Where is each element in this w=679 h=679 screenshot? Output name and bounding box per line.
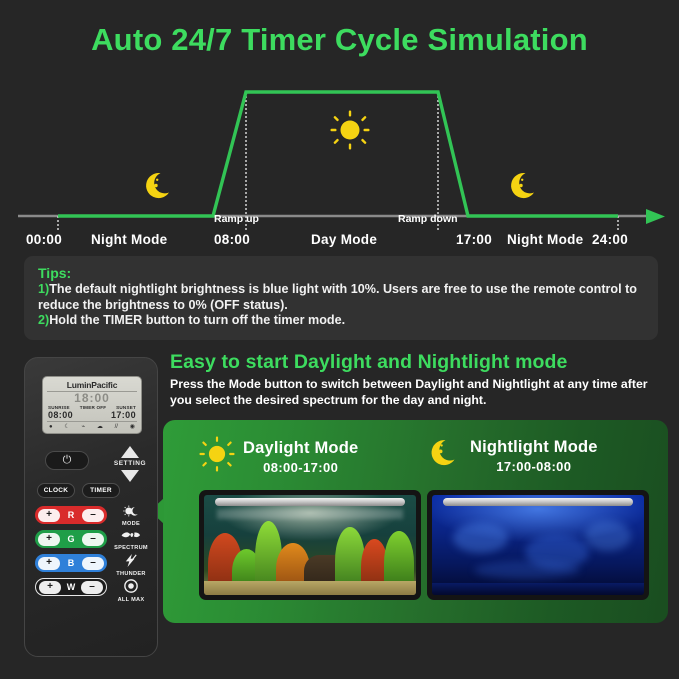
daylight-mode-header: Daylight Mode 08:00-17:00 bbox=[199, 436, 358, 477]
channel-row-white: + W – bbox=[35, 578, 107, 596]
daylight-mode-text: Daylight Mode 08:00-17:00 bbox=[243, 439, 358, 475]
remote-control: LuminPacific 18:00 SUNRISE TIMER OFF SUN… bbox=[24, 357, 158, 657]
tick-label-0800: 08:00 bbox=[214, 232, 250, 247]
all-max-label: ALL MAX bbox=[111, 597, 151, 603]
ramp-up-label: Ramp up bbox=[214, 213, 259, 225]
tip-text-2: Hold the TIMER button to turn off the ti… bbox=[49, 313, 345, 327]
aquarium-light-bar bbox=[215, 498, 406, 506]
nightlight-aquarium-photo bbox=[427, 490, 649, 600]
tip-number-2: 2) bbox=[38, 313, 49, 327]
tips-heading: Tips: bbox=[38, 265, 644, 281]
zone-label-night-2: Night Mode bbox=[507, 232, 584, 247]
subhead-body: Press the Mode button to switch between … bbox=[170, 377, 670, 408]
sun-icon bbox=[199, 436, 235, 477]
lcd-cloud-icon: ☁ bbox=[97, 423, 103, 430]
red-channel-label: R bbox=[68, 510, 75, 520]
spectrum-label: SPECTRUM bbox=[111, 545, 151, 551]
tick-label-0000: 00:00 bbox=[26, 232, 62, 247]
lcd-clock-value: 18:00 bbox=[47, 392, 137, 405]
mode-button[interactable]: MODE bbox=[111, 505, 151, 527]
tip-item-1: 1)The default nightlight brightness is b… bbox=[38, 282, 644, 313]
chart-svg bbox=[0, 80, 679, 250]
tick-label-2400: 24:00 bbox=[592, 232, 628, 247]
lcd-moon-icon: ☾ bbox=[64, 423, 69, 430]
lcd-sunrise-value: 08:00 bbox=[48, 410, 73, 420]
green-minus-button[interactable]: – bbox=[82, 533, 104, 546]
lightning-icon bbox=[111, 554, 151, 570]
zone-label-night-1: Night Mode bbox=[91, 232, 168, 247]
red-plus-button[interactable]: + bbox=[38, 509, 60, 522]
daylight-mode-time: 08:00-17:00 bbox=[243, 460, 358, 475]
clock-button[interactable]: CLOCK bbox=[37, 483, 75, 498]
lcd-sunset-value: 17:00 bbox=[111, 410, 136, 420]
ramp-down-label: Ramp down bbox=[398, 213, 458, 225]
lcd-fish-icon: ⌁ bbox=[82, 423, 86, 430]
chart-axis-arrow bbox=[646, 209, 665, 224]
tick-label-1700: 17:00 bbox=[456, 232, 492, 247]
setting-down-button[interactable] bbox=[121, 470, 139, 482]
lcd-dot-icon: ● bbox=[49, 424, 53, 430]
red-minus-button[interactable]: – bbox=[82, 509, 104, 522]
tips-box: Tips: 1)The default nightlight brightnes… bbox=[24, 256, 658, 340]
remote-lcd-display: LuminPacific 18:00 SUNRISE TIMER OFF SUN… bbox=[42, 376, 142, 434]
green-channel-label: G bbox=[67, 534, 74, 544]
subhead-block: Easy to start Daylight and Nightlight mo… bbox=[170, 351, 670, 408]
lcd-label-timer-off: TIMER OFF bbox=[80, 405, 107, 410]
page-title: Auto 24/7 Timer Cycle Simulation bbox=[0, 22, 679, 58]
all-max-button[interactable]: ALL MAX bbox=[111, 579, 151, 603]
mode-label: MODE bbox=[111, 521, 151, 527]
blue-plus-button[interactable]: + bbox=[38, 557, 60, 570]
zone-label-day: Day Mode bbox=[311, 232, 377, 247]
aquarium-light-bar bbox=[443, 498, 634, 506]
spectrum-button[interactable]: SPECTRUM bbox=[111, 530, 151, 551]
white-channel-label: W bbox=[67, 582, 76, 592]
timer-cycle-chart: Ramp up Ramp down 00:00 Night Mode 08:00… bbox=[0, 80, 679, 250]
fish-icon bbox=[111, 530, 151, 544]
lcd-mode-icon-row: ● ☾ ⌁ ☁ // ◉ bbox=[47, 421, 137, 430]
lcd-lightning-icon: // bbox=[115, 424, 118, 430]
channel-row-green: + G – bbox=[35, 530, 107, 548]
nightlight-mode-time: 17:00-08:00 bbox=[470, 459, 598, 474]
modes-panel: Daylight Mode 08:00-17:00 Nightlight Mod… bbox=[163, 420, 668, 623]
daylight-aquarium-photo bbox=[199, 490, 421, 600]
moon-icon bbox=[508, 169, 542, 203]
nightlight-mode-text: Nightlight Mode 17:00-08:00 bbox=[470, 438, 598, 474]
nightlight-mode-name: Nightlight Mode bbox=[470, 438, 598, 457]
sun-icon bbox=[330, 110, 370, 150]
tip-text-1: The default nightlight brightness is blu… bbox=[38, 282, 637, 312]
tip-item-2: 2)Hold the TIMER button to turn off the … bbox=[38, 313, 644, 329]
blue-channel-label: B bbox=[68, 558, 75, 568]
target-icon bbox=[111, 579, 151, 596]
sun-moon-icon bbox=[111, 505, 151, 520]
setting-control: SETTING bbox=[111, 446, 149, 482]
white-minus-button[interactable]: – bbox=[81, 581, 103, 594]
lcd-target-icon: ◉ bbox=[130, 423, 135, 430]
subhead-title: Easy to start Daylight and Nightlight mo… bbox=[170, 351, 670, 374]
channel-row-blue: + B – bbox=[35, 554, 107, 572]
timer-button[interactable]: TIMER bbox=[82, 483, 120, 498]
setting-label: SETTING bbox=[111, 460, 149, 467]
white-plus-button[interactable]: + bbox=[39, 581, 61, 594]
blue-minus-button[interactable]: – bbox=[82, 557, 104, 570]
thunder-button[interactable]: THUNDER bbox=[111, 554, 151, 577]
setting-up-button[interactable] bbox=[121, 446, 139, 458]
moon-icon bbox=[143, 169, 177, 203]
tip-number-1: 1) bbox=[38, 282, 49, 296]
daylight-mode-name: Daylight Mode bbox=[243, 439, 358, 458]
moon-icon bbox=[428, 436, 462, 475]
thunder-label: THUNDER bbox=[111, 571, 151, 577]
green-plus-button[interactable]: + bbox=[38, 533, 60, 546]
nightlight-mode-header: Nightlight Mode 17:00-08:00 bbox=[428, 436, 598, 475]
lcd-value-row: 08:00 17:00 bbox=[47, 410, 137, 420]
power-button[interactable]: ⏻ bbox=[45, 451, 89, 470]
channel-row-red: + R – bbox=[35, 506, 107, 524]
